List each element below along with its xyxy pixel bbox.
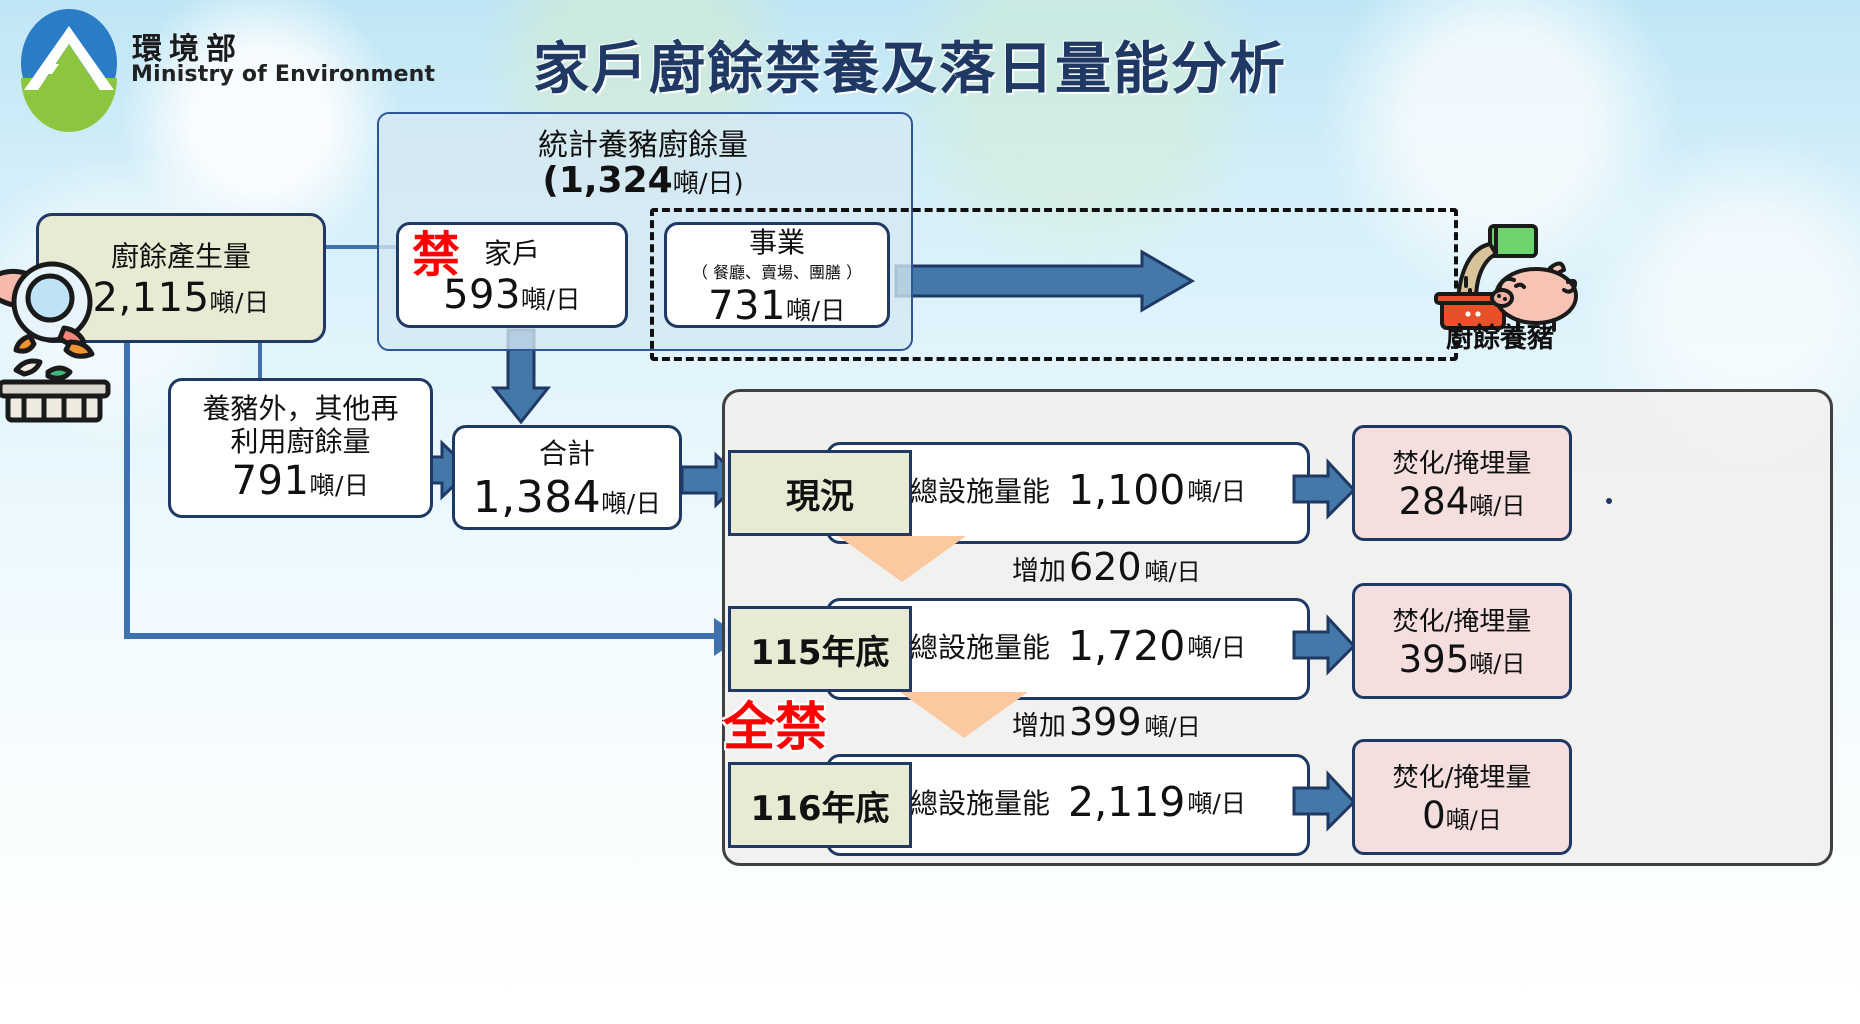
scenario-tag-116-label: 116年底 — [751, 781, 890, 830]
output-number-115: 395 — [1399, 638, 1470, 681]
capacity-unit-116: 噸/日 — [1187, 784, 1245, 820]
output-value-current: 284噸/日 — [1399, 480, 1526, 523]
connector-generation-left-horizontal — [124, 633, 724, 639]
scenario-tag-current-label: 現況 — [786, 469, 854, 518]
scenario-capacity-current: 總設施量能 1,100噸/日 — [910, 455, 1246, 525]
output-value-115: 395噸/日 — [1399, 638, 1526, 681]
household-value: 593噸/日 — [443, 272, 581, 318]
increment-arrow-2 — [900, 692, 1030, 740]
arrow-116-to-output — [1294, 774, 1358, 830]
other-reuse-box: 養豬外，其他再 利用廚餘量 791噸/日 — [168, 378, 433, 518]
household-unit: 噸/日 — [521, 285, 581, 314]
output-unit-current: 噸/日 — [1469, 492, 1525, 520]
increment-1: 增加620噸/日 — [1012, 545, 1201, 589]
increment-1-value: 620 — [1066, 545, 1145, 589]
output-value-116: 0噸/日 — [1422, 794, 1502, 837]
ministry-name-en: Ministry of Environment — [131, 62, 435, 87]
household-label: 家戶 — [484, 232, 540, 272]
food-waste-scrape-icon — [0, 250, 120, 420]
increment-1-unit: 噸/日 — [1145, 558, 1201, 586]
scenario-capacity-115: 總設施量能 1,720噸/日 — [910, 611, 1246, 681]
pig-waste-value: (1,324噸/日) — [377, 160, 909, 201]
output-box-116: 焚化/掩埋量 0噸/日 — [1352, 739, 1572, 855]
output-unit-115: 噸/日 — [1469, 650, 1525, 678]
other-reuse-value: 791噸/日 — [232, 458, 370, 504]
generation-label: 廚餘產生量 — [111, 235, 251, 275]
other-reuse-unit: 噸/日 — [309, 471, 369, 500]
scenario-tag-115-label: 115年底 — [751, 625, 890, 674]
output-label-116: 焚化/掩埋量 — [1393, 757, 1532, 794]
increment-2: 增加399噸/日 — [1012, 700, 1201, 744]
scenario-tag-115: 115年底 — [728, 606, 912, 692]
increment-2-unit: 噸/日 — [1145, 713, 1201, 741]
total-value: 1,384噸/日 — [473, 472, 661, 523]
business-box: 事業 （ 餐廳、賣場、團膳 ） 731噸/日 — [664, 222, 890, 328]
scenario-tag-current: 現況 — [728, 450, 912, 536]
output-box-current-visible: 焚化/掩埋量 284噸/日 — [1352, 425, 1572, 541]
other-reuse-label-line2: 利用廚餘量 — [230, 425, 370, 458]
capacity-prefix-115: 總設施量能 — [910, 626, 1050, 666]
arrow-current-to-output — [1294, 462, 1358, 518]
capacity-unit-current: 噸/日 — [1187, 472, 1245, 508]
connector-generation-down — [258, 343, 262, 381]
full-ban-stamp: 全禁 — [723, 685, 827, 760]
business-number: 731 — [708, 283, 786, 329]
other-reuse-label-line1: 養豬外，其他再 — [202, 392, 398, 425]
page-title: 家戶廚餘禁養及落日量能分析 — [470, 24, 1350, 105]
increment-2-prefix: 增加 — [1012, 711, 1066, 742]
business-label: 事業 — [749, 221, 805, 261]
connector-generation-left-vertical — [124, 341, 130, 637]
business-value: 731噸/日 — [708, 283, 846, 329]
generation-unit: 噸/日 — [210, 288, 270, 317]
scenario-tag-116: 116年底 — [728, 762, 912, 848]
output-number-current: 284 — [1399, 480, 1470, 523]
scenario-capacity-116: 總設施量能 2,119噸/日 — [910, 767, 1246, 837]
pig-waste-number: (1,324 — [542, 160, 672, 201]
output-box-current — [1606, 498, 1612, 504]
capacity-prefix-current: 總設施量能 — [910, 470, 1050, 510]
increment-2-value: 399 — [1066, 700, 1145, 744]
total-number: 1,384 — [473, 472, 601, 523]
capacity-unit-115: 噸/日 — [1187, 628, 1245, 664]
increment-arrow-1 — [838, 536, 968, 584]
total-box: 合計 1,384噸/日 — [452, 425, 682, 530]
ban-stamp: 禁 — [412, 215, 460, 285]
arrow-115-to-output — [1294, 618, 1358, 674]
pig-feeding-caption: 廚餘養豬 — [1380, 316, 1620, 355]
capacity-value-115: 1,720 — [1066, 622, 1187, 670]
capacity-value-116: 2,119 — [1066, 778, 1187, 826]
output-label-current: 焚化/掩埋量 — [1393, 443, 1532, 480]
pig-waste-title: 統計養豬廚餘量 — [377, 120, 909, 164]
other-reuse-number: 791 — [232, 458, 310, 504]
output-label-115: 焚化/掩埋量 — [1393, 601, 1532, 638]
total-label: 合計 — [539, 432, 595, 472]
capacity-value-current: 1,100 — [1066, 466, 1187, 514]
business-unit: 噸/日 — [786, 296, 846, 325]
output-box-115: 焚化/掩埋量 395噸/日 — [1352, 583, 1572, 699]
capacity-prefix-116: 總設施量能 — [910, 782, 1050, 822]
business-sublabel: （ 餐廳、賣場、團膳 ） — [692, 259, 862, 283]
moenv-logo — [14, 8, 124, 118]
output-number-116: 0 — [1422, 794, 1446, 837]
total-unit: 噸/日 — [601, 489, 661, 518]
pig-waste-unit: 噸/日) — [673, 169, 744, 199]
increment-1-prefix: 增加 — [1012, 556, 1066, 587]
output-unit-116: 噸/日 — [1446, 806, 1502, 834]
